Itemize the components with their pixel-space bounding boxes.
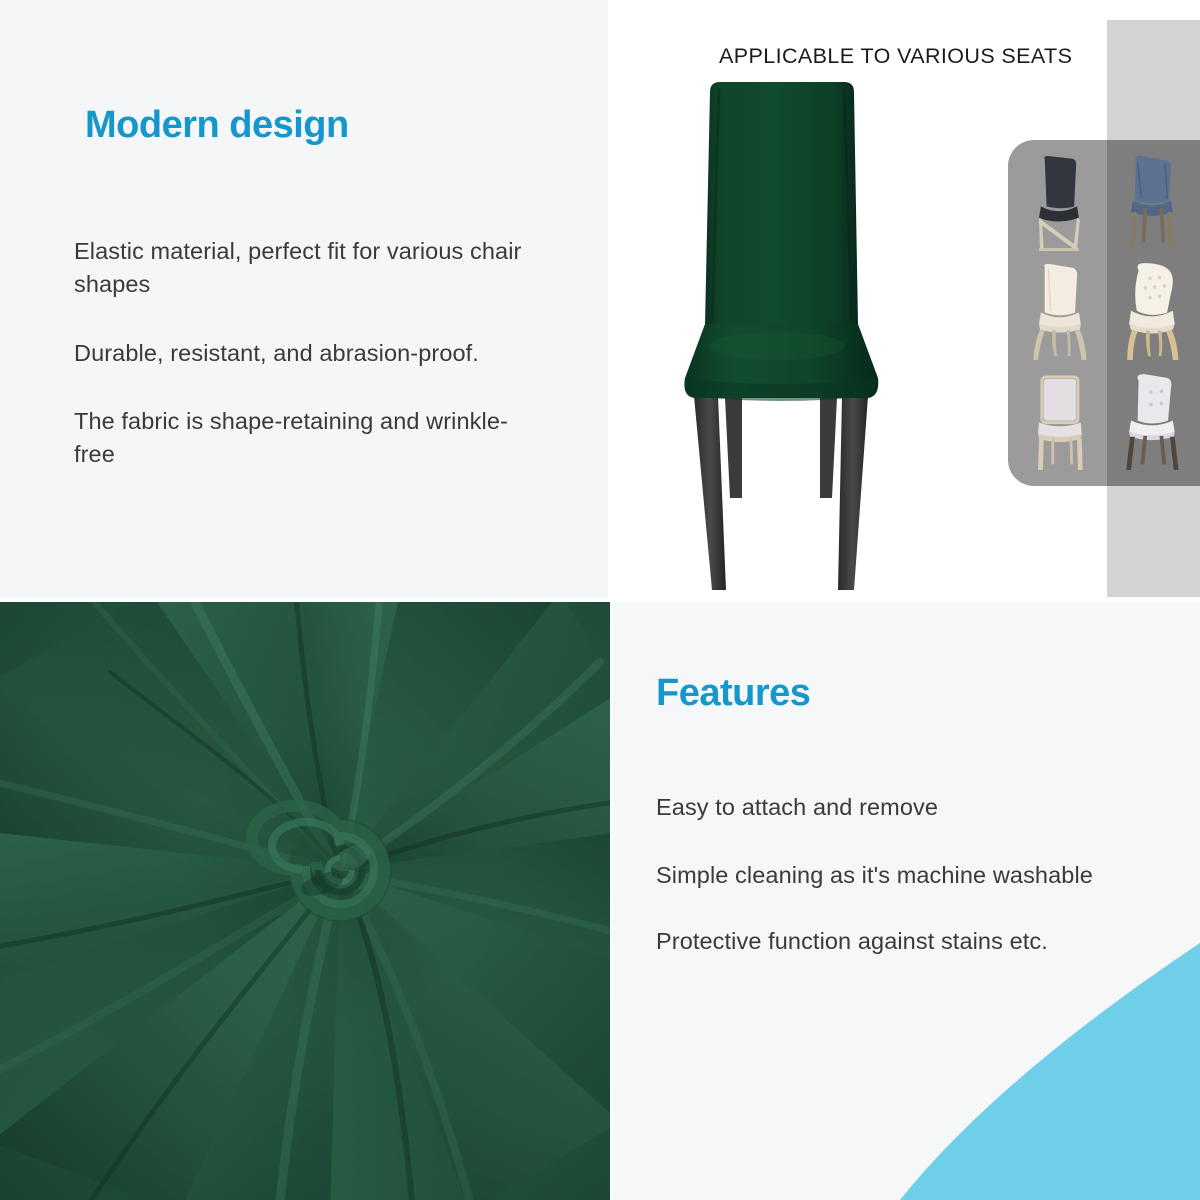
features-text-3: Protective function against stains etc. [656, 925, 1048, 958]
modern-design-text-3: The fabric is shape-retaining and wrinkl… [74, 405, 544, 471]
modern-design-panel: Modern design Elastic material, perfect … [0, 0, 608, 597]
modern-design-text-1: Elastic material, perfect fit for variou… [74, 235, 544, 301]
fabric-swatch-panel [0, 602, 610, 1200]
features-text-2: Simple cleaning as it's machine washable [656, 859, 1093, 892]
chair-thumbnail-dark-charcoal-cantilever-chair[interactable] [1012, 148, 1104, 258]
chair-thumbnail-cream-parson-chair[interactable] [1012, 258, 1104, 368]
green-velvet-fabric-image [0, 602, 610, 1200]
modern-design-text-2: Durable, resistant, and abrasion-proof. [74, 337, 594, 370]
chair-thumbnail-gray-buttoned-dining-chair[interactable] [1104, 368, 1196, 478]
main-green-chair-image [672, 78, 897, 590]
features-heading: Features [656, 672, 810, 715]
features-panel: Features Easy to attach and remove Simpl… [613, 602, 1200, 1200]
applicable-seats-panel: APPLICABLE TO VARIOUS SEATS [613, 0, 1200, 597]
chair-thumbnail-light-gray-upholstered-chair[interactable] [1012, 368, 1104, 478]
applicable-seats-title: APPLICABLE TO VARIOUS SEATS [719, 44, 1072, 69]
chair-thumbnail-navy-blue-wingback-chair[interactable] [1104, 148, 1196, 258]
chair-thumbnail-grid [1008, 140, 1200, 486]
modern-design-heading: Modern design [85, 104, 349, 147]
infographic-page: Modern design Elastic material, perfect … [0, 0, 1200, 1200]
chair-thumbnail-ivory-tufted-barrel-chair[interactable] [1104, 258, 1196, 368]
features-text-1: Easy to attach and remove [656, 791, 938, 824]
